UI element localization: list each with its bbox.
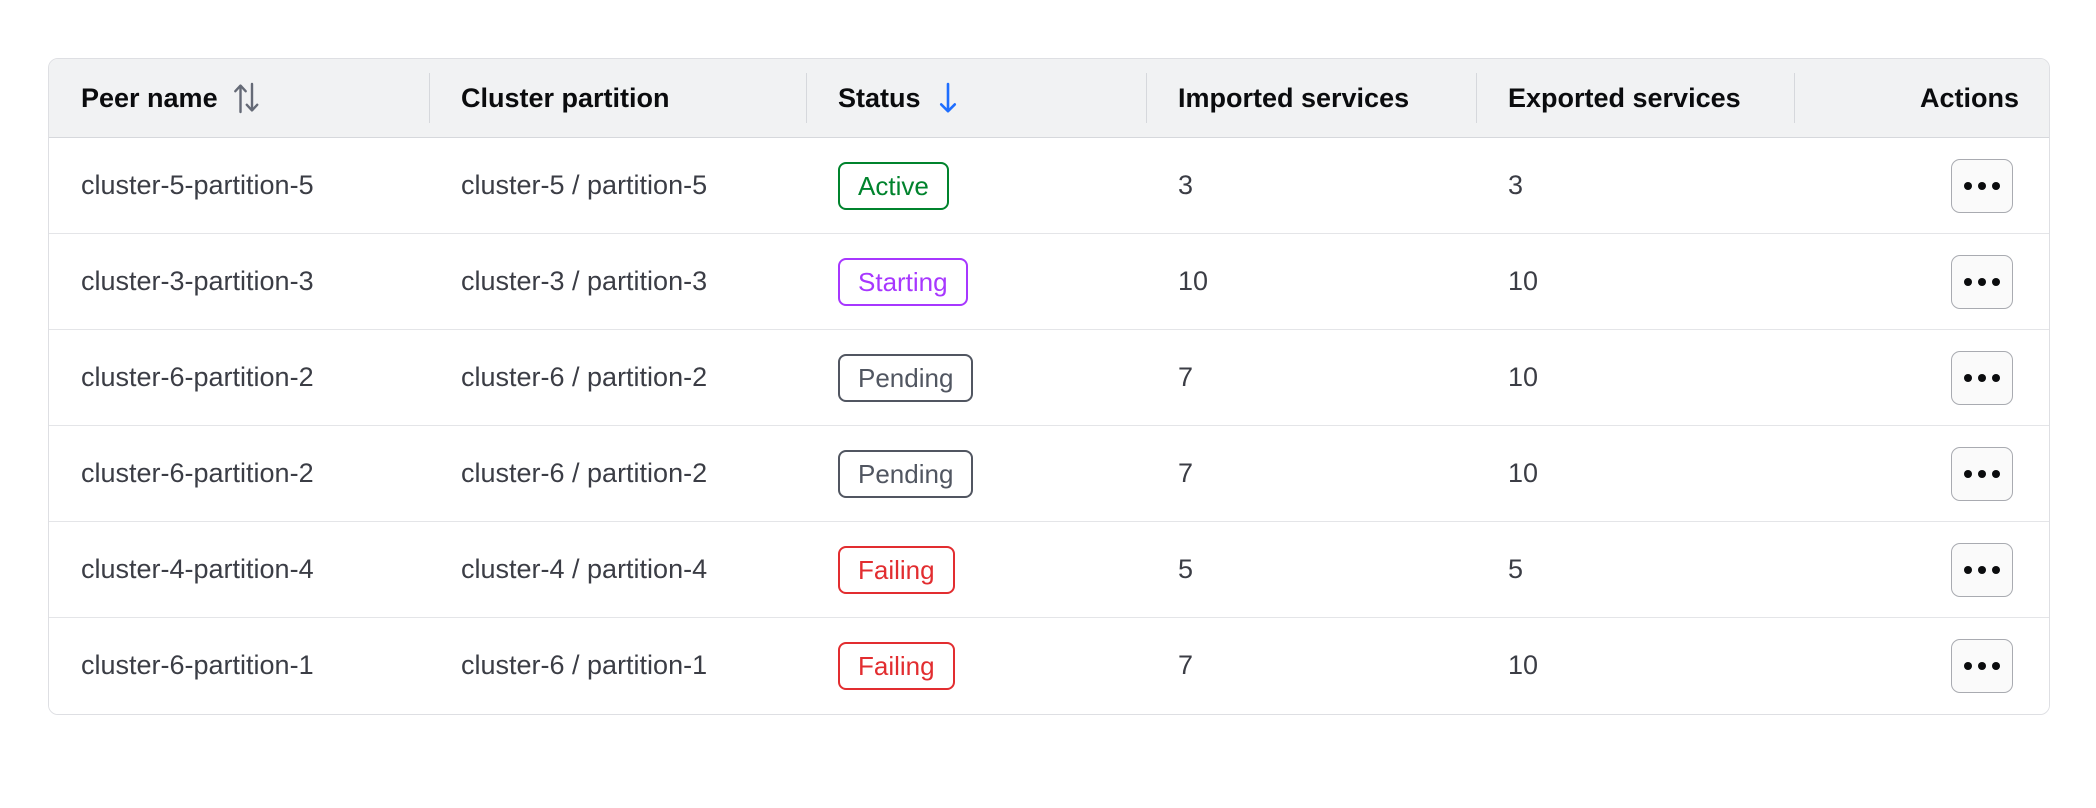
row-actions-button[interactable] xyxy=(1951,639,2013,693)
cell-exported-services: 3 xyxy=(1476,138,1794,234)
column-header-peer-name[interactable]: Peer name xyxy=(49,59,429,138)
row-actions-button[interactable] xyxy=(1951,447,2013,501)
cell-peer-name: cluster-4-partition-4 xyxy=(49,522,429,618)
table-header: Peer name xyxy=(49,59,2050,138)
cell-cluster-partition: cluster-6 / partition-2 xyxy=(429,330,806,426)
cell-actions xyxy=(1794,138,2050,234)
status-badge: Failing xyxy=(838,642,955,690)
kebab-menu-icon xyxy=(1964,662,2000,670)
row-actions-button[interactable] xyxy=(1951,159,2013,213)
column-header-cluster-partition-label: Cluster partition xyxy=(461,83,670,114)
table-body: cluster-5-partition-5 cluster-5 / partit… xyxy=(49,138,2050,714)
cell-status: Active xyxy=(806,138,1146,234)
cell-peer-name: cluster-5-partition-5 xyxy=(49,138,429,234)
sort-updown-icon[interactable] xyxy=(232,81,262,115)
column-header-imported-services[interactable]: Imported services xyxy=(1146,59,1476,138)
cell-status: Pending xyxy=(806,426,1146,522)
cell-imported-services: 3 xyxy=(1146,138,1476,234)
column-header-imported-services-label: Imported services xyxy=(1178,83,1409,114)
kebab-menu-icon xyxy=(1964,278,2000,286)
table-row[interactable]: cluster-4-partition-4 cluster-4 / partit… xyxy=(49,522,2050,618)
cell-exported-services: 10 xyxy=(1476,234,1794,330)
cell-exported-services: 10 xyxy=(1476,618,1794,714)
arrow-down-icon[interactable] xyxy=(935,81,961,115)
cell-peer-name: cluster-3-partition-3 xyxy=(49,234,429,330)
row-actions-button[interactable] xyxy=(1951,255,2013,309)
cell-actions xyxy=(1794,618,2050,714)
cell-imported-services: 7 xyxy=(1146,618,1476,714)
column-header-status[interactable]: Status xyxy=(806,59,1146,138)
status-badge: Active xyxy=(838,162,949,210)
cell-cluster-partition: cluster-4 / partition-4 xyxy=(429,522,806,618)
status-badge: Starting xyxy=(838,258,968,306)
cell-status: Failing xyxy=(806,522,1146,618)
cell-actions xyxy=(1794,330,2050,426)
cell-cluster-partition: cluster-6 / partition-1 xyxy=(429,618,806,714)
kebab-menu-icon xyxy=(1964,182,2000,190)
cell-peer-name: cluster-6-partition-2 xyxy=(49,426,429,522)
cell-exported-services: 10 xyxy=(1476,330,1794,426)
cell-cluster-partition: cluster-5 / partition-5 xyxy=(429,138,806,234)
cell-imported-services: 7 xyxy=(1146,330,1476,426)
cell-actions xyxy=(1794,522,2050,618)
row-actions-button[interactable] xyxy=(1951,351,2013,405)
cell-exported-services: 5 xyxy=(1476,522,1794,618)
cell-imported-services: 7 xyxy=(1146,426,1476,522)
kebab-menu-icon xyxy=(1964,374,2000,382)
table-row[interactable]: cluster-3-partition-3 cluster-3 / partit… xyxy=(49,234,2050,330)
column-header-exported-services[interactable]: Exported services xyxy=(1476,59,1794,138)
cell-actions xyxy=(1794,234,2050,330)
cell-cluster-partition: cluster-6 / partition-2 xyxy=(429,426,806,522)
column-header-actions: Actions xyxy=(1794,59,2050,138)
status-badge: Pending xyxy=(838,354,973,402)
table-row[interactable]: cluster-5-partition-5 cluster-5 / partit… xyxy=(49,138,2050,234)
table-row[interactable]: cluster-6-partition-2 cluster-6 / partit… xyxy=(49,426,2050,522)
kebab-menu-icon xyxy=(1964,566,2000,574)
row-actions-button[interactable] xyxy=(1951,543,2013,597)
kebab-menu-icon xyxy=(1964,470,2000,478)
cell-peer-name: cluster-6-partition-2 xyxy=(49,330,429,426)
column-header-peer-name-label: Peer name xyxy=(81,83,218,114)
peers-table-page: Peer name xyxy=(0,0,2096,808)
table-row[interactable]: cluster-6-partition-2 cluster-6 / partit… xyxy=(49,330,2050,426)
status-badge: Pending xyxy=(838,450,973,498)
cell-status: Pending xyxy=(806,330,1146,426)
column-header-status-label: Status xyxy=(838,83,921,114)
cell-status: Starting xyxy=(806,234,1146,330)
peers-table: Peer name xyxy=(49,59,2050,714)
cell-cluster-partition: cluster-3 / partition-3 xyxy=(429,234,806,330)
cell-peer-name: cluster-6-partition-1 xyxy=(49,618,429,714)
cell-actions xyxy=(1794,426,2050,522)
cell-status: Failing xyxy=(806,618,1146,714)
cell-imported-services: 5 xyxy=(1146,522,1476,618)
cell-imported-services: 10 xyxy=(1146,234,1476,330)
column-header-actions-label: Actions xyxy=(1920,83,2019,114)
cell-exported-services: 10 xyxy=(1476,426,1794,522)
column-header-cluster-partition[interactable]: Cluster partition xyxy=(429,59,806,138)
peers-table-card: Peer name xyxy=(48,58,2050,715)
table-header-row: Peer name xyxy=(49,59,2050,138)
status-badge: Failing xyxy=(838,546,955,594)
table-row[interactable]: cluster-6-partition-1 cluster-6 / partit… xyxy=(49,618,2050,714)
column-header-exported-services-label: Exported services xyxy=(1508,83,1741,114)
